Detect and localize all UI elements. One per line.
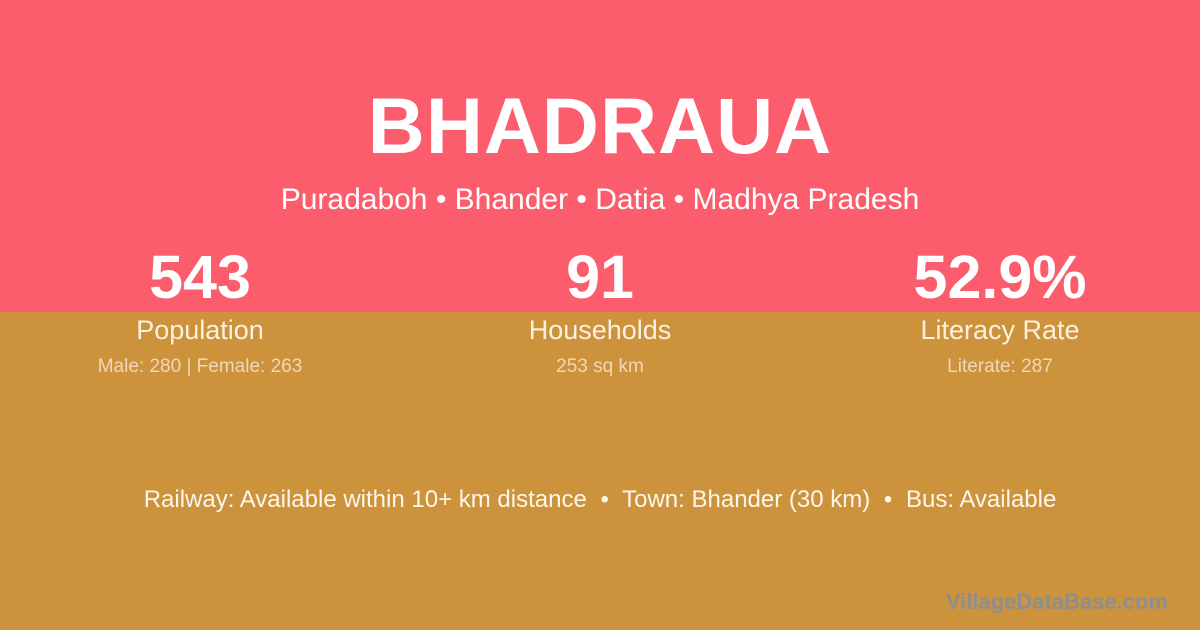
facility-summary: Railway: Available within 10+ km distanc… <box>0 484 1200 516</box>
stat-label-population: Population <box>0 314 400 346</box>
village-info-card: BHADRAUA Puradaboh • Bhander • Datia • M… <box>0 0 1200 630</box>
facility-bus: Bus: Available <box>906 486 1056 513</box>
stat-sub-literacy: Literate: 287 <box>800 355 1200 379</box>
facility-separator-2: • <box>877 486 899 513</box>
stat-card-literacy: 52.9% Literacy Rate Literate: 287 <box>800 243 1200 379</box>
facility-railway: Railway: Available within 10+ km distanc… <box>144 486 587 513</box>
facility-separator-1: • <box>593 486 615 513</box>
stat-sub-population: Male: 280 | Female: 263 <box>0 355 400 379</box>
facility-town: Town: Bhander (30 km) <box>622 486 870 513</box>
stat-value-literacy: 52.9% <box>800 243 1200 311</box>
stat-label-households: Households <box>400 314 800 346</box>
stat-card-population: 543 Population Male: 280 | Female: 263 <box>0 243 400 379</box>
breadcrumb: Puradaboh • Bhander • Datia • Madhya Pra… <box>0 181 1200 219</box>
stat-sub-households: 253 sq km <box>400 355 800 379</box>
stat-label-literacy: Literacy Rate <box>800 314 1200 346</box>
page-title: BHADRAUA <box>0 82 1200 170</box>
stat-value-population: 543 <box>0 243 400 311</box>
stats-row: 543 Population Male: 280 | Female: 263 9… <box>0 243 1200 379</box>
stat-value-households: 91 <box>400 243 800 311</box>
site-watermark: VillageDataBase.com <box>946 588 1168 616</box>
stat-card-households: 91 Households 253 sq km <box>400 243 800 379</box>
